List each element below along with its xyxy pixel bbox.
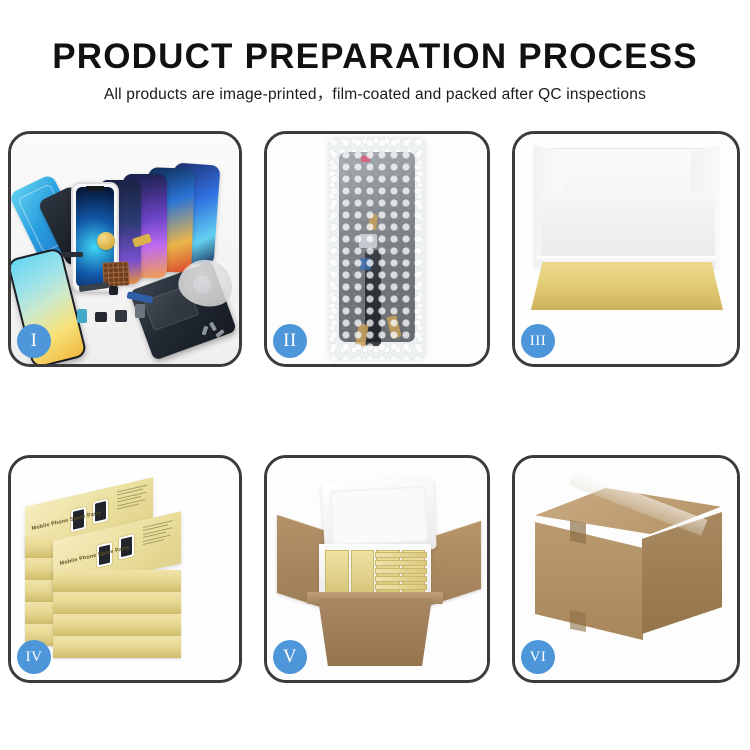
box-edge	[53, 592, 181, 614]
step-badge-4: IV	[17, 640, 51, 674]
step-panel-4: Mobile Phone Spare Parts	[8, 455, 242, 683]
small-part-icon	[95, 312, 107, 322]
page-subtitle: All products are image-printed，film-coat…	[0, 84, 750, 106]
step-badge-2: II	[273, 324, 307, 358]
carton-seam	[570, 610, 586, 632]
product-preparation-infographic: PRODUCT PREPARATION PROCESS All products…	[0, 0, 750, 750]
step-panel-2: II	[264, 131, 490, 367]
connector-icon	[359, 234, 377, 248]
flex-cable-icon	[61, 252, 83, 257]
qc-label-icon	[361, 156, 370, 162]
step-badge-1: I	[17, 324, 51, 358]
box-spec-lines	[117, 484, 151, 512]
foam-liner-icon	[537, 256, 717, 263]
carton-body	[313, 598, 437, 666]
carton-front-face	[535, 522, 643, 640]
step-panel-5: V	[264, 455, 490, 683]
small-part-icon	[135, 304, 145, 318]
box-edge	[53, 636, 181, 658]
step-badge-5: V	[273, 640, 307, 674]
process-step-grid: I II	[0, 131, 750, 691]
screws-icon	[201, 322, 227, 342]
box-edge	[53, 570, 181, 592]
header: PRODUCT PREPARATION PROCESS All products…	[0, 0, 750, 118]
step-badge-6: VI	[521, 640, 555, 674]
carton-seam	[570, 520, 586, 544]
small-part-icon	[77, 309, 87, 323]
small-part-icon	[115, 310, 127, 322]
step-panel-1: I	[8, 131, 242, 367]
connector-icon	[360, 258, 371, 270]
step-panel-6: VI	[512, 455, 740, 683]
box-edge	[53, 614, 181, 636]
speaker-coil-icon	[97, 232, 115, 250]
box-spec-lines	[143, 519, 177, 547]
notch-icon	[86, 186, 104, 191]
packed-boxes-stack	[375, 550, 427, 594]
page-title: PRODUCT PREPARATION PROCESS	[0, 36, 750, 78]
step-panel-3: III	[512, 131, 740, 367]
small-part-icon	[109, 286, 118, 295]
kraft-tray-icon	[531, 262, 723, 310]
step-badge-3: III	[521, 324, 555, 358]
gold-contact-icon	[368, 214, 378, 231]
bubble-wrap-icon	[329, 138, 425, 360]
